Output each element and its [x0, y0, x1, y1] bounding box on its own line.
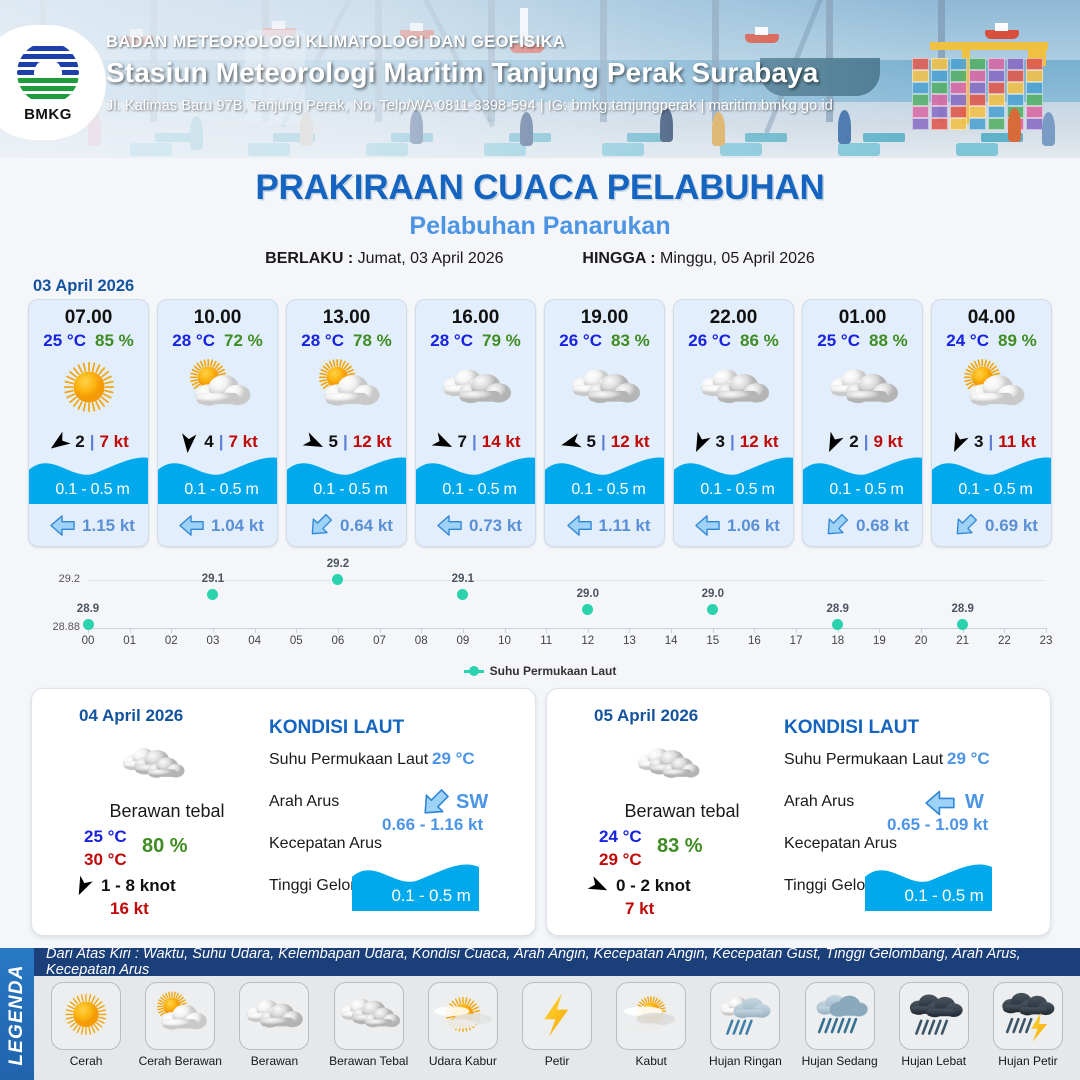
humidity: 72 % — [224, 331, 263, 351]
chart-x-tick: 17 — [781, 635, 811, 647]
daily-condition-text: Berawan tebal — [72, 801, 262, 822]
legend-icon-udara-kabur — [428, 982, 498, 1050]
chart-x-gridmark — [629, 628, 630, 633]
chart-x-gridmark — [130, 628, 131, 633]
legend-item: Cerah Berawan — [134, 982, 226, 1068]
weather-condition-icon — [158, 353, 277, 425]
legend-item: Berawan — [228, 982, 320, 1068]
chart-point-label: 29.0 — [568, 588, 608, 600]
chart-x-tick: 10 — [490, 635, 520, 647]
chart-x-tick: 18 — [823, 635, 853, 647]
legend-icon-berawan-tebal — [334, 982, 404, 1050]
chart-x-tick: 00 — [73, 635, 103, 647]
legend-item-label: Cerah Berawan — [139, 1054, 222, 1068]
current-direction-arrow-icon — [50, 513, 75, 538]
daily-wave-height-band: 0.1 - 0.5 m — [865, 863, 1023, 911]
chart-data-point — [207, 589, 218, 600]
current-speed: 1.06 kt — [727, 516, 780, 536]
chart-x-tick: 02 — [156, 635, 186, 647]
wave-height-band: 0.1 - 0.5 m — [416, 449, 536, 504]
sea-surface-temp-value: 29 °C — [947, 749, 990, 769]
legend-item-label: Hujan Sedang — [802, 1054, 878, 1068]
chart-data-point — [332, 574, 343, 585]
berlaku-label: BERLAKU : — [265, 250, 353, 267]
hourly-forecast-card[interactable]: 10.00 28 °C 72 % — [157, 299, 278, 547]
chart-legend-marker — [464, 670, 484, 673]
legend-section: LEGENDA Dari Atas Kiri : Waktu, Suhu Uda… — [0, 948, 1080, 1080]
chart-point-label: 28.9 — [68, 603, 108, 615]
daily-forecast-panel: 04 April 2026 — [31, 688, 536, 936]
daily-humidity: 83 % — [657, 835, 703, 858]
legend-item: Berawan Tebal — [323, 982, 415, 1068]
chart-x-tick: 16 — [739, 635, 769, 647]
bmkg-logo-disc — [17, 42, 79, 104]
daily-weather-icon — [619, 737, 715, 795]
chart-y-tick: 28.88 — [28, 621, 80, 633]
chart-x-gridmark — [296, 628, 297, 633]
hourly-forecast-card[interactable]: 04.00 24 °C 89 % — [931, 299, 1052, 547]
wave-height-band: 0.1 - 0.5 m — [287, 449, 407, 504]
chart-x-gridmark — [338, 628, 339, 633]
chart-x-tick: 22 — [989, 635, 1019, 647]
legend-icon-kabut — [616, 982, 686, 1050]
current-speed: 1.04 kt — [211, 516, 264, 536]
chart-data-point — [83, 619, 94, 630]
daily-gust-speed: 16 kt — [110, 899, 149, 919]
humidity: 86 % — [740, 331, 779, 351]
legend-item-label: Hujan Petir — [998, 1054, 1057, 1068]
sea-row-label: Kecepatan Arus — [784, 835, 897, 853]
hourly-forecast-card[interactable]: 16.00 28 °C 79 % — [415, 299, 536, 547]
daily-weather-icon — [104, 737, 200, 795]
air-temperature: 26 °C — [559, 331, 602, 351]
chart-legend-label: Suhu Permukaan Laut — [490, 664, 617, 678]
berlaku-value: Jumat, 03 April 2026 — [358, 250, 504, 267]
chart-x-gridmark — [546, 628, 547, 633]
sea-surface-temperature-chart: 29.228.880001020304050607080910111213141… — [28, 556, 1052, 680]
legend-icon-cerah-berawan — [145, 982, 215, 1050]
current-speed: 1.11 kt — [599, 516, 651, 536]
chart-legend: Suhu Permukaan Laut — [28, 664, 1052, 678]
legend-items-row: Cerah Cerah Berawan — [34, 976, 1080, 1080]
current-direction-value: SW — [456, 791, 488, 814]
daily-humidity: 80 % — [142, 835, 188, 858]
chart-x-axis — [88, 628, 1046, 629]
daily-wind-range: 0 - 2 knot — [616, 876, 691, 896]
weather-condition-icon — [287, 353, 406, 425]
legend-icon-hujan-ringan — [710, 982, 780, 1050]
daily-date: 05 April 2026 — [594, 706, 698, 726]
sea-surface-temp-value: 29 °C — [432, 749, 475, 769]
hourly-forecast-row: 07.00 25 °C 85 % — [28, 299, 1052, 547]
chart-x-gridmark — [255, 628, 256, 633]
chart-x-tick: 19 — [864, 635, 894, 647]
humidity: 78 % — [353, 331, 392, 351]
current-speed: 1.15 kt — [82, 516, 135, 536]
chart-x-tick: 11 — [531, 635, 561, 647]
current-direction-arrow-icon — [567, 513, 592, 538]
page-title: PRAKIRAAN CUACA PELABUHAN — [0, 168, 1080, 208]
legend-side-label: LEGENDA — [6, 954, 28, 1076]
chart-x-tick: 04 — [240, 635, 270, 647]
chart-x-gridmark — [796, 628, 797, 633]
chart-data-point — [707, 604, 718, 615]
legend-side-bar: LEGENDA — [0, 948, 34, 1080]
wave-height-band: 0.1 - 0.5 m — [29, 449, 149, 504]
chart-x-tick: 01 — [115, 635, 145, 647]
sea-row-label: Kecepatan Arus — [269, 835, 382, 853]
legend-icon-berawan — [239, 982, 309, 1050]
humidity: 85 % — [95, 331, 134, 351]
wave-height-band: 0.1 - 0.5 m — [803, 449, 923, 504]
chart-x-gridmark — [213, 628, 214, 633]
air-temperature: 28 °C — [172, 331, 215, 351]
current-speed: 0.69 kt — [985, 516, 1038, 536]
legend-icon-hujan-sedang — [805, 982, 875, 1050]
legend-header-text: Dari Atas Kiri : Waktu, Suhu Udara, Kele… — [34, 948, 1080, 976]
sea-row-label: Suhu Permukaan Laut — [269, 751, 428, 769]
legend-item-label: Hujan Lebat — [901, 1054, 966, 1068]
legend-icon-hujan-petir — [993, 982, 1063, 1050]
humidity: 89 % — [998, 331, 1037, 351]
current-direction-arrow-icon — [953, 513, 978, 538]
hourly-forecast-card[interactable]: 13.00 28 °C 78 % — [286, 299, 407, 547]
hourly-forecast-card[interactable]: 19.00 26 °C 83 % — [544, 299, 665, 547]
chart-x-tick: 08 — [406, 635, 436, 647]
forecast-time: 19.00 — [545, 307, 664, 329]
hingga-value: Minggu, 05 April 2026 — [660, 250, 815, 267]
sea-row-label: Suhu Permukaan Laut — [784, 751, 943, 769]
daily-date: 04 April 2026 — [79, 706, 183, 726]
chart-x-tick: 09 — [448, 635, 478, 647]
forecast-time: 13.00 — [287, 307, 406, 329]
chart-x-gridmark — [421, 628, 422, 633]
wave-height-value: 0.1 - 0.5 m — [287, 481, 407, 499]
daily-temp-min: 24 °C — [599, 827, 642, 847]
legend-item: Hujan Sedang — [794, 982, 886, 1068]
weather-condition-icon — [416, 353, 535, 425]
current-speed-value: 0.66 - 1.16 kt — [382, 815, 483, 835]
chart-point-label: 29.0 — [693, 588, 733, 600]
bmkg-logo-text: BMKG — [11, 106, 85, 123]
humidity: 83 % — [611, 331, 650, 351]
chart-x-tick: 06 — [323, 635, 353, 647]
daily-gust-speed: 7 kt — [625, 899, 654, 919]
hourly-forecast-card[interactable]: 07.00 25 °C 85 % — [28, 299, 149, 547]
daily-wave-height-value: 0.1 - 0.5 m — [865, 886, 1023, 906]
daily-wind-direction-arrow-icon — [72, 875, 94, 897]
weather-condition-icon — [803, 353, 922, 425]
hourly-date-label: 03 April 2026 — [33, 277, 134, 296]
legend-icon-cerah — [51, 982, 121, 1050]
daily-wind-range: 1 - 8 knot — [101, 876, 176, 896]
chart-x-tick: 07 — [365, 635, 395, 647]
wave-height-value: 0.1 - 0.5 m — [416, 481, 536, 499]
chart-x-gridmark — [171, 628, 172, 633]
daily-forecast-panel: 05 April 2026 — [546, 688, 1051, 936]
air-temperature: 28 °C — [301, 331, 344, 351]
chart-x-tick: 20 — [906, 635, 936, 647]
legend-item-label: Kabut — [636, 1054, 667, 1068]
chart-point-label: 29.1 — [193, 573, 233, 585]
validity-period: BERLAKU : Jumat, 03 April 2026 HINGGA : … — [0, 250, 1080, 268]
page-header: BMKG BADAN METEOROLOGI KLIMATOLOGI DAN G… — [0, 0, 1080, 158]
hingga-label: HINGGA : — [582, 250, 655, 267]
weather-condition-icon — [29, 353, 148, 425]
current-direction-arrow-icon — [308, 513, 333, 538]
legend-item: Kabut — [605, 982, 697, 1068]
chart-x-tick: 13 — [614, 635, 644, 647]
daily-temp-max: 30 °C — [84, 850, 127, 870]
legend-icon-hujan-lebat — [899, 982, 969, 1050]
daily-wind-direction-arrow-icon — [587, 875, 609, 897]
air-temperature: 26 °C — [688, 331, 731, 351]
page-subtitle: Pelabuhan Panarukan — [0, 212, 1080, 241]
chart-x-gridmark — [754, 628, 755, 633]
current-direction-arrow-icon — [179, 513, 204, 538]
legend-item-label: Berawan — [251, 1054, 298, 1068]
chart-x-gridmark — [713, 628, 714, 633]
current-direction-arrow-icon — [420, 788, 450, 818]
legend-item-label: Cerah — [70, 1054, 103, 1068]
forecast-time: 01.00 — [803, 307, 922, 329]
wave-height-value: 0.1 - 0.5 m — [158, 481, 278, 499]
legend-item-label: Udara Kabur — [429, 1054, 497, 1068]
wave-height-band: 0.1 - 0.5 m — [158, 449, 278, 504]
hourly-forecast-card[interactable]: 22.00 26 °C 86 % — [673, 299, 794, 547]
chart-plot-area: 29.228.880001020304050607080910111213141… — [28, 556, 1052, 636]
chart-point-label: 29.2 — [318, 558, 358, 570]
chart-point-label: 28.9 — [818, 603, 858, 615]
air-temperature: 25 °C — [43, 331, 86, 351]
chart-x-tick: 15 — [698, 635, 728, 647]
current-direction-arrow-icon — [824, 513, 849, 538]
wave-height-band: 0.1 - 0.5 m — [674, 449, 794, 504]
chart-x-tick: 23 — [1031, 635, 1061, 647]
wave-height-band: 0.1 - 0.5 m — [932, 449, 1052, 504]
current-direction-arrow-icon — [437, 513, 462, 538]
current-direction-value: W — [965, 791, 984, 814]
current-speed: 0.68 kt — [856, 516, 909, 536]
legend-item-label: Hujan Ringan — [709, 1054, 782, 1068]
wave-height-value: 0.1 - 0.5 m — [545, 481, 665, 499]
chart-x-gridmark — [380, 628, 381, 633]
daily-temp-max: 29 °C — [599, 850, 642, 870]
chart-y-tick: 29.2 — [28, 573, 80, 585]
current-speed-value: 0.65 - 1.09 kt — [887, 815, 988, 835]
forecast-time: 16.00 — [416, 307, 535, 329]
chart-point-label: 28.9 — [943, 603, 983, 615]
chart-x-tick: 12 — [573, 635, 603, 647]
legend-item-label: Petir — [545, 1054, 570, 1068]
air-temperature: 25 °C — [817, 331, 860, 351]
wave-height-value: 0.1 - 0.5 m — [932, 481, 1052, 499]
daily-wave-height-value: 0.1 - 0.5 m — [352, 886, 510, 906]
sea-condition-title: KONDISI LAUT — [269, 717, 404, 739]
forecast-time: 07.00 — [29, 307, 148, 329]
forecast-time: 10.00 — [158, 307, 277, 329]
wave-height-band: 0.1 - 0.5 m — [545, 449, 665, 504]
wave-height-value: 0.1 - 0.5 m — [803, 481, 923, 499]
weather-condition-icon — [545, 353, 664, 425]
chart-x-gridmark — [463, 628, 464, 633]
current-direction-arrow-icon — [925, 788, 955, 818]
title-block: PRAKIRAAN CUACA PELABUHAN Pelabuhan Pana… — [0, 168, 1080, 268]
legend-icon-petir — [522, 982, 592, 1050]
chart-x-gridmark — [879, 628, 880, 633]
chart-x-gridmark — [921, 628, 922, 633]
humidity: 79 % — [482, 331, 521, 351]
forecast-time: 22.00 — [674, 307, 793, 329]
chart-x-tick: 03 — [198, 635, 228, 647]
legend-item: Cerah — [40, 982, 132, 1068]
organization-name: BADAN METEOROLOGI KLIMATOLOGI DAN GEOFIS… — [106, 33, 833, 52]
legend-item: Hujan Lebat — [888, 982, 980, 1068]
station-address: Jl. Kalimas Baru 97B, Tanjung Perak, No.… — [106, 98, 833, 114]
chart-x-tick: 14 — [656, 635, 686, 647]
wave-height-value: 0.1 - 0.5 m — [29, 481, 149, 499]
current-direction-arrow-icon — [695, 513, 720, 538]
chart-data-point — [582, 604, 593, 615]
legend-item: Hujan Ringan — [699, 982, 791, 1068]
station-name: Stasiun Meteorologi Maritim Tanjung Pera… — [106, 57, 833, 89]
current-speed: 0.64 kt — [340, 516, 393, 536]
chart-data-point — [457, 589, 468, 600]
legend-item: Petir — [511, 982, 603, 1068]
weather-condition-icon — [932, 353, 1051, 425]
legend-item-label: Berawan Tebal — [329, 1054, 408, 1068]
forecast-time: 04.00 — [932, 307, 1051, 329]
sea-row-label: Arah Arus — [784, 793, 854, 811]
humidity: 88 % — [869, 331, 908, 351]
sea-row-label: Arah Arus — [269, 793, 339, 811]
legend-item: Hujan Petir — [982, 982, 1074, 1068]
chart-x-gridmark — [1004, 628, 1005, 633]
chart-x-gridmark — [505, 628, 506, 633]
hourly-forecast-card[interactable]: 01.00 25 °C 88 % — [802, 299, 923, 547]
chart-x-gridmark — [1046, 628, 1047, 633]
chart-x-gridmark — [671, 628, 672, 633]
daily-wave-height-band: 0.1 - 0.5 m — [352, 863, 510, 911]
chart-x-gridmark — [588, 628, 589, 633]
air-temperature: 28 °C — [430, 331, 473, 351]
current-speed: 0.73 kt — [469, 516, 522, 536]
daily-temp-min: 25 °C — [84, 827, 127, 847]
sea-condition-title: KONDISI LAUT — [784, 717, 919, 739]
wave-height-value: 0.1 - 0.5 m — [674, 481, 794, 499]
chart-x-tick: 21 — [948, 635, 978, 647]
legend-item: Udara Kabur — [417, 982, 509, 1068]
chart-point-label: 29.1 — [443, 573, 483, 585]
weather-condition-icon — [674, 353, 793, 425]
chart-x-tick: 05 — [281, 635, 311, 647]
air-temperature: 24 °C — [946, 331, 989, 351]
daily-condition-text: Berawan tebal — [587, 801, 777, 822]
